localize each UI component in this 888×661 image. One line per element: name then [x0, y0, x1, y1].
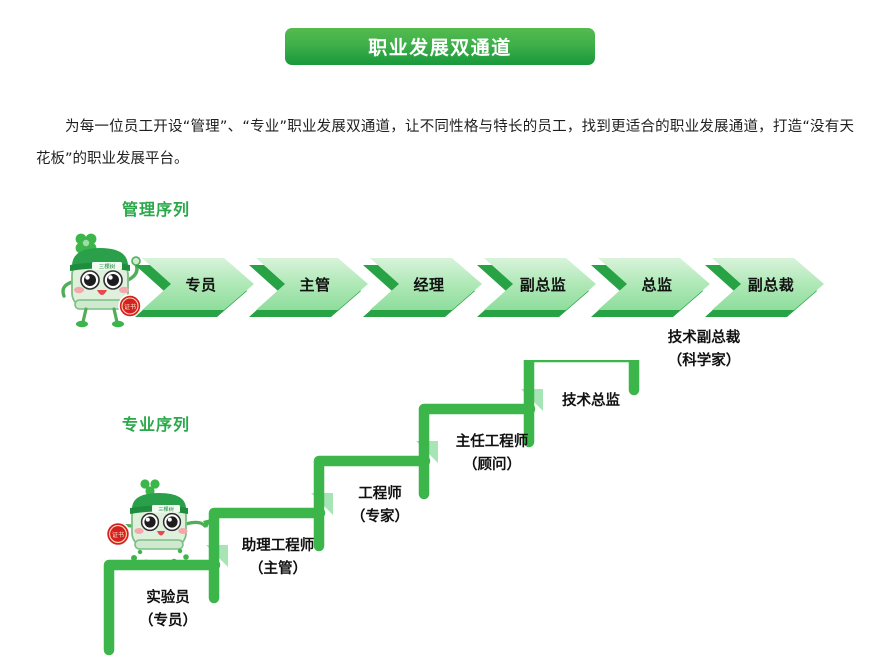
professional-step-subtitle: （专员）: [125, 610, 211, 633]
management-step-5[interactable]: 总监: [598, 258, 710, 316]
professional-step-4[interactable]: 主任工程师 （顾问）: [440, 431, 544, 477]
management-step-label: 总监: [624, 258, 690, 310]
professional-step-title: 工程师: [358, 486, 402, 502]
professional-staircase: 实验员 （专员） 助理工程师 （主管） 工程师 （专家） 主任工程师 （顾问） …: [0, 360, 888, 657]
svg-text:证书: 证书: [124, 303, 136, 311]
professional-step-title: 主任工程师: [456, 434, 529, 450]
professional-step-title: 技术总监: [562, 393, 620, 409]
professional-step-subtitle: （顾问）: [440, 454, 544, 477]
management-step-label: 主管: [282, 258, 348, 310]
professional-step-3[interactable]: 工程师 （专家）: [336, 483, 424, 529]
professional-step-title: 助理工程师: [242, 538, 315, 554]
management-step-3[interactable]: 经理: [370, 258, 482, 316]
management-step-2[interactable]: 主管: [256, 258, 368, 316]
professional-step-subtitle: （主管）: [228, 558, 328, 581]
management-track-label: 管理序列: [122, 196, 190, 220]
professional-step-subtitle: （专家）: [336, 506, 424, 529]
professional-step-title: 实验员: [146, 590, 190, 606]
management-step-4[interactable]: 副总监: [484, 258, 596, 316]
professional-step-5[interactable]: 技术总监: [546, 390, 636, 413]
professional-step-title: 技术副总裁: [668, 330, 741, 346]
management-step-label: 副总监: [510, 258, 576, 310]
svg-text:三棵树: 三棵树: [99, 263, 116, 271]
page-title-banner: 职业发展双通道: [285, 28, 595, 65]
mascot-character-management: 三棵树 证书: [56, 224, 152, 328]
professional-step-1[interactable]: 实验员 （专员）: [125, 587, 211, 633]
management-step-1[interactable]: 专员: [142, 258, 254, 316]
professional-step-2[interactable]: 助理工程师 （主管）: [228, 535, 328, 581]
management-step-label: 专员: [168, 258, 234, 310]
intro-paragraph: 为每一位员工开设“管理”、“专业”职业发展双通道，让不同性格与特长的员工，找到更…: [36, 111, 854, 175]
management-step-label: 副总裁: [738, 258, 804, 310]
management-step-6[interactable]: 副总裁: [712, 258, 824, 316]
management-step-label: 经理: [396, 258, 462, 310]
professional-step-subtitle: （科学家）: [648, 350, 760, 373]
page-title: 职业发展双通道: [368, 33, 512, 60]
professional-step-6[interactable]: 技术副总裁 （科学家）: [648, 327, 760, 373]
